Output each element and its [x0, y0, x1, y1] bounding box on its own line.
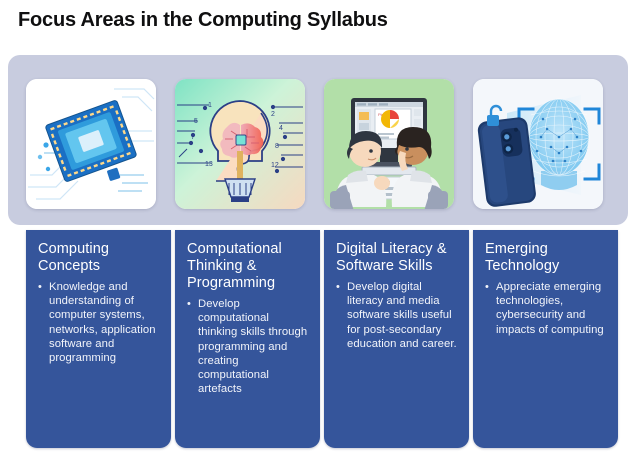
svg-text:13: 13 — [205, 161, 213, 168]
image-tile-students-computer: Pie Chart — [324, 79, 454, 209]
slide-canvas: Focus Areas in the Computing Syllabus — [0, 0, 637, 461]
image-tile-microchip — [26, 79, 156, 209]
focus-card-title: Digital Literacy & Software Skills — [336, 241, 459, 275]
focus-card-title: Computing Concepts — [38, 241, 161, 275]
focus-card-bullets: Develop digital literacy and media softw… — [336, 280, 459, 351]
svg-text:4: 4 — [279, 125, 283, 132]
svg-text:1: 1 — [208, 102, 212, 109]
focus-card-digital-literacy[interactable]: Digital Literacy & Software Skills Devel… — [324, 230, 469, 448]
image-tiles-row: 15 713 24 812 — [8, 55, 628, 225]
image-tile-face-recognition — [473, 79, 603, 209]
bullet-item: Develop digital literacy and media softw… — [336, 280, 459, 351]
microchip-illustration — [26, 79, 156, 209]
svg-text:12: 12 — [271, 162, 279, 169]
lightbulb-brain-circuit-illustration: 15 713 24 812 — [175, 79, 305, 209]
focus-card-emerging-technology[interactable]: Emerging Technology Appreciate emerging … — [473, 230, 618, 448]
bullet-item: Develop computational thinking skills th… — [187, 297, 310, 396]
bullet-item: Appreciate emerging technologies, cybers… — [485, 280, 608, 337]
svg-text:2: 2 — [271, 111, 275, 118]
focus-card-title: Computational Thinking & Programming — [187, 241, 310, 292]
focus-card-computing-concepts[interactable]: Computing Concepts Knowledge and underst… — [26, 230, 171, 448]
image-tile-lightbulb-brain: 15 713 24 812 — [175, 79, 305, 209]
focus-card-bullets: Appreciate emerging technologies, cybers… — [485, 280, 608, 337]
svg-text:8: 8 — [275, 143, 279, 150]
focus-card-computational-thinking[interactable]: Computational Thinking & Programming Dev… — [175, 230, 320, 448]
svg-text:5: 5 — [194, 118, 198, 125]
page-title: Focus Areas in the Computing Syllabus — [18, 9, 388, 32]
focus-area-cards: Computing Concepts Knowledge and underst… — [0, 230, 637, 450]
focus-card-bullets: Knowledge and understanding of computer … — [38, 280, 161, 365]
focus-card-title: Emerging Technology — [485, 241, 608, 275]
students-at-computer-illustration: Pie Chart — [324, 79, 454, 209]
focus-card-bullets: Develop computational thinking skills th… — [187, 297, 310, 396]
face-recognition-illustration — [473, 79, 603, 209]
bullet-item: Knowledge and understanding of computer … — [38, 280, 161, 365]
svg-text:7: 7 — [191, 134, 195, 141]
